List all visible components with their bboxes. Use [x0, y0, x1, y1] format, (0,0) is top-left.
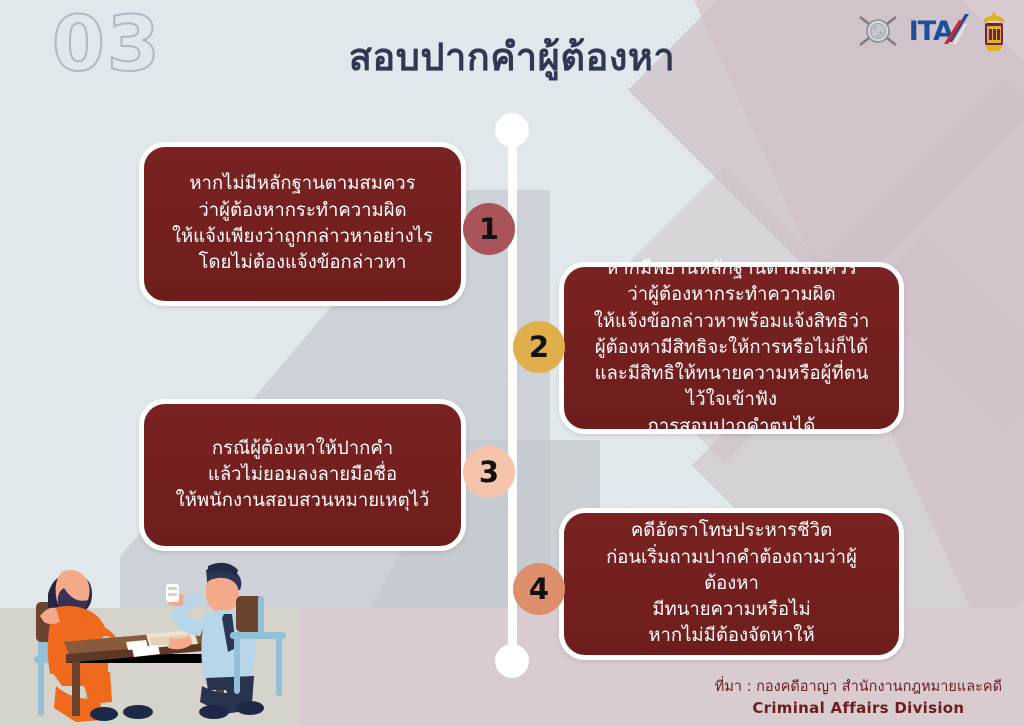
step-card-4[interactable]: คดีอัตราโทษประหารชีวิต ก่อนเริ่มถามปากคำ… [559, 508, 904, 660]
step-card-4-text: คดีอัตราโทษประหารชีวิต ก่อนเริ่มถามปากคำ… [582, 518, 881, 649]
footer-source-english: Criminal Affairs Division [715, 698, 1002, 720]
footer-credit: ที่มา : กองคดีอาญา สำนักงานกฎหมายและคดี … [715, 677, 1002, 720]
police-interrogation-illustration [10, 536, 310, 726]
step-badge-2[interactable]: 2 [513, 321, 565, 373]
step-card-1-text: หากไม่มีหลักฐานตามสมควร ว่าผู้ต้องหากระท… [172, 171, 433, 276]
royal-thai-emblem-icon [978, 10, 1010, 52]
logo-row: ITA [856, 8, 1010, 54]
step-badge-3[interactable]: 3 [463, 446, 515, 498]
step-card-3-text: กรณีผู้ต้องหาให้ปากคำ แล้วไม่ยอมลงลายมือ… [176, 436, 430, 515]
ita-logo: ITA [909, 18, 969, 45]
timeline-start-dot [495, 113, 529, 147]
step-badge-4[interactable]: 4 [513, 563, 565, 615]
ita-swoosh-icon [943, 14, 971, 44]
footer-source-thai: ที่มา : กองคดีอาญา สำนักงานกฎหมายและคดี [715, 677, 1002, 698]
step-card-2[interactable]: หากมีพยานหลักฐานตามสมควร ว่าผู้ต้องหากระ… [559, 262, 904, 434]
step-card-1[interactable]: หากไม่มีหลักฐานตามสมควร ว่าผู้ต้องหากระท… [139, 142, 466, 306]
step-badge-1[interactable]: 1 [463, 203, 515, 255]
police-seal-icon [856, 11, 900, 51]
step-card-3[interactable]: กรณีผู้ต้องหาให้ปากคำ แล้วไม่ยอมลงลายมือ… [139, 399, 466, 551]
police-officer-figure [166, 563, 264, 719]
infographic-page: 03 สอบปากคำผู้ต้องหา ITA [0, 0, 1024, 726]
timeline-end-dot [495, 644, 529, 678]
step-card-2-text: หากมีพยานหลักฐานตามสมควร ว่าผู้ต้องหากระ… [582, 256, 881, 440]
chair-right [230, 596, 286, 696]
